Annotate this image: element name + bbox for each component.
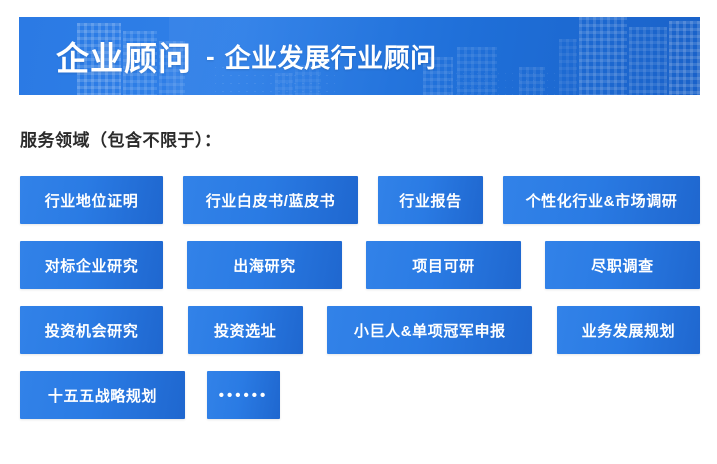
service-tag-label: 投资选址 [214,320,276,341]
service-tag-label: 行业报告 [399,190,461,211]
service-tag-button[interactable]: 投资机会研究 [20,306,163,354]
service-tag-button[interactable]: •••••• [207,371,280,419]
service-tag-button[interactable]: 行业地位证明 [20,176,163,224]
service-tag-label: 个性化行业&市场调研 [526,190,678,211]
building-pattern-icon [579,17,627,95]
service-tag-label: 投资机会研究 [45,320,139,341]
banner-title-subtitle: 企业发展行业顾问 [225,38,437,75]
service-tag-button[interactable]: 行业白皮书/蓝皮书 [183,176,358,224]
service-tag-label: 项目可研 [412,255,474,276]
service-tag-label: 十五五战略规划 [48,385,157,406]
service-tag-label: 行业白皮书/蓝皮书 [206,190,336,211]
service-tag-label: 出海研究 [233,255,295,276]
banner-title-separator: - [206,41,215,72]
ellipsis-icon: •••••• [219,387,269,404]
service-tag-button[interactable]: 十五五战略规划 [20,371,185,419]
service-tag-button[interactable]: 对标企业研究 [20,241,163,289]
building-pattern-icon [629,27,667,95]
banner-title: 企业顾问 - 企业发展行业顾问 [56,17,437,95]
banner-title-main: 企业顾问 [56,32,192,80]
service-tag-grid: 行业地位证明行业白皮书/蓝皮书行业报告个性化行业&市场调研对标企业研究出海研究项… [20,176,700,436]
header-banner: 企业顾问 - 企业发展行业顾问 [19,17,700,95]
building-pattern-icon [559,39,577,95]
service-tag-row: 十五五战略规划•••••• [20,371,700,419]
building-pattern-icon [519,67,545,95]
service-tag-row: 投资机会研究投资选址小巨人&单项冠军申报业务发展规划 [20,306,700,354]
service-tag-button[interactable]: 出海研究 [187,241,342,289]
service-tag-button[interactable]: 业务发展规划 [557,306,700,354]
building-pattern-icon [457,47,497,95]
service-tag-button[interactable]: 项目可研 [366,241,521,289]
service-tag-label: 对标企业研究 [45,255,139,276]
section-label: 服务领域（包含不限于）： [20,126,222,151]
service-tag-label: 行业地位证明 [45,190,139,211]
service-tag-button[interactable]: 投资选址 [188,306,303,354]
service-tag-row: 对标企业研究出海研究项目可研尽职调查 [20,241,700,289]
service-tag-button[interactable]: 行业报告 [378,176,483,224]
building-pattern-icon [669,21,700,95]
service-tag-button[interactable]: 个性化行业&市场调研 [503,176,700,224]
service-tag-label: 小巨人&单项冠军申报 [354,320,506,341]
service-tag-row: 行业地位证明行业白皮书/蓝皮书行业报告个性化行业&市场调研 [20,176,700,224]
service-tag-label: 尽职调查 [591,255,653,276]
service-tag-button[interactable]: 尽职调查 [545,241,700,289]
service-tag-label: 业务发展规划 [582,320,676,341]
service-tag-button[interactable]: 小巨人&单项冠军申报 [327,306,532,354]
